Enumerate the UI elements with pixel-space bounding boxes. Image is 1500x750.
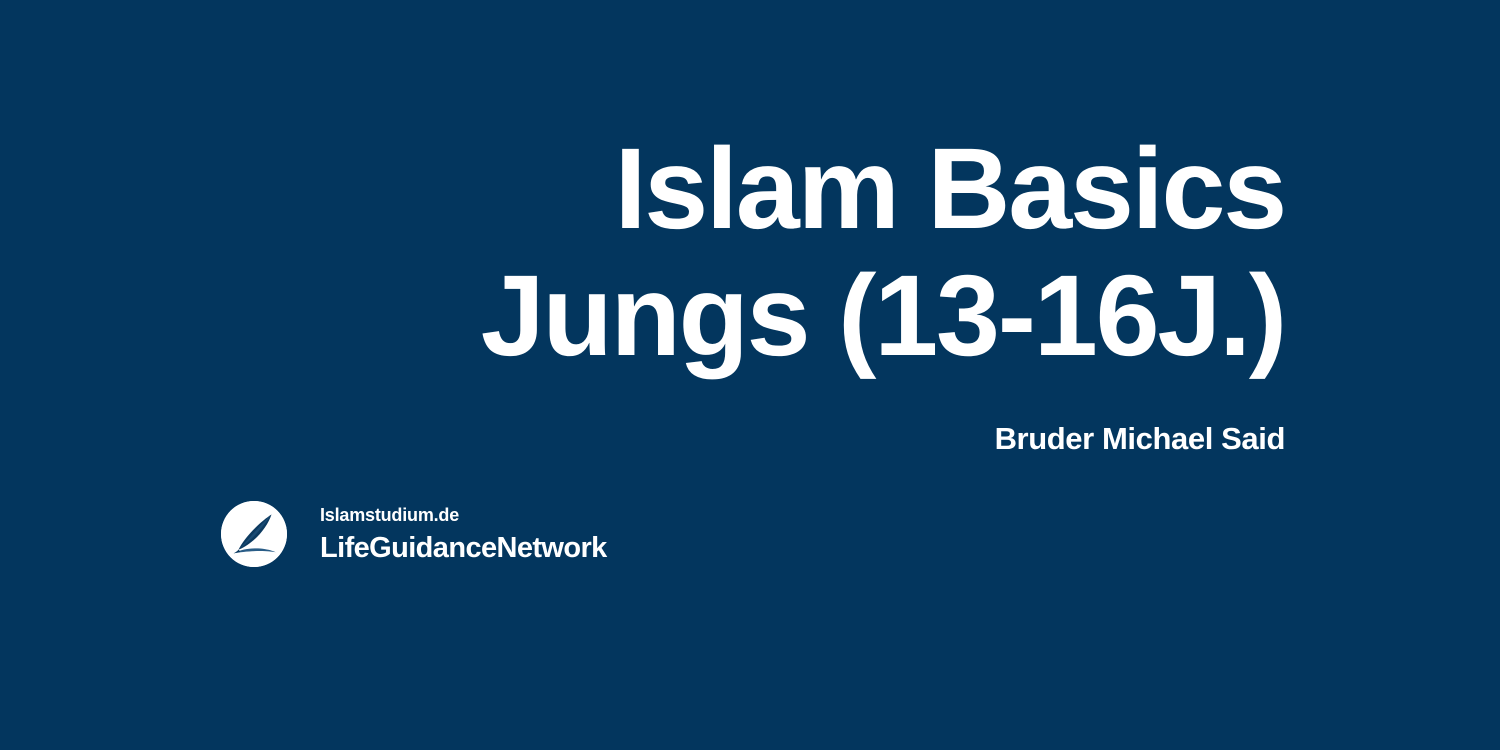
slide-title: Islam Basics Jungs (13-16J.) xyxy=(185,126,1285,380)
title-line-1: Islam Basics xyxy=(185,126,1285,253)
presenter-name: Bruder Michael Said xyxy=(185,420,1285,458)
brand-lockup: Islamstudium.de LifeGuidanceNetwork xyxy=(221,501,607,567)
quill-pen-icon xyxy=(221,501,287,567)
brand-site-label: Islamstudium.de xyxy=(320,505,607,525)
brand-name-label: LifeGuidanceNetwork xyxy=(320,532,607,564)
title-slide: Islam Basics Jungs (13-16J.) Bruder Mich… xyxy=(0,0,1500,750)
brand-text: Islamstudium.de LifeGuidanceNetwork xyxy=(320,505,607,564)
title-line-2: Jungs (13-16J.) xyxy=(185,253,1285,380)
